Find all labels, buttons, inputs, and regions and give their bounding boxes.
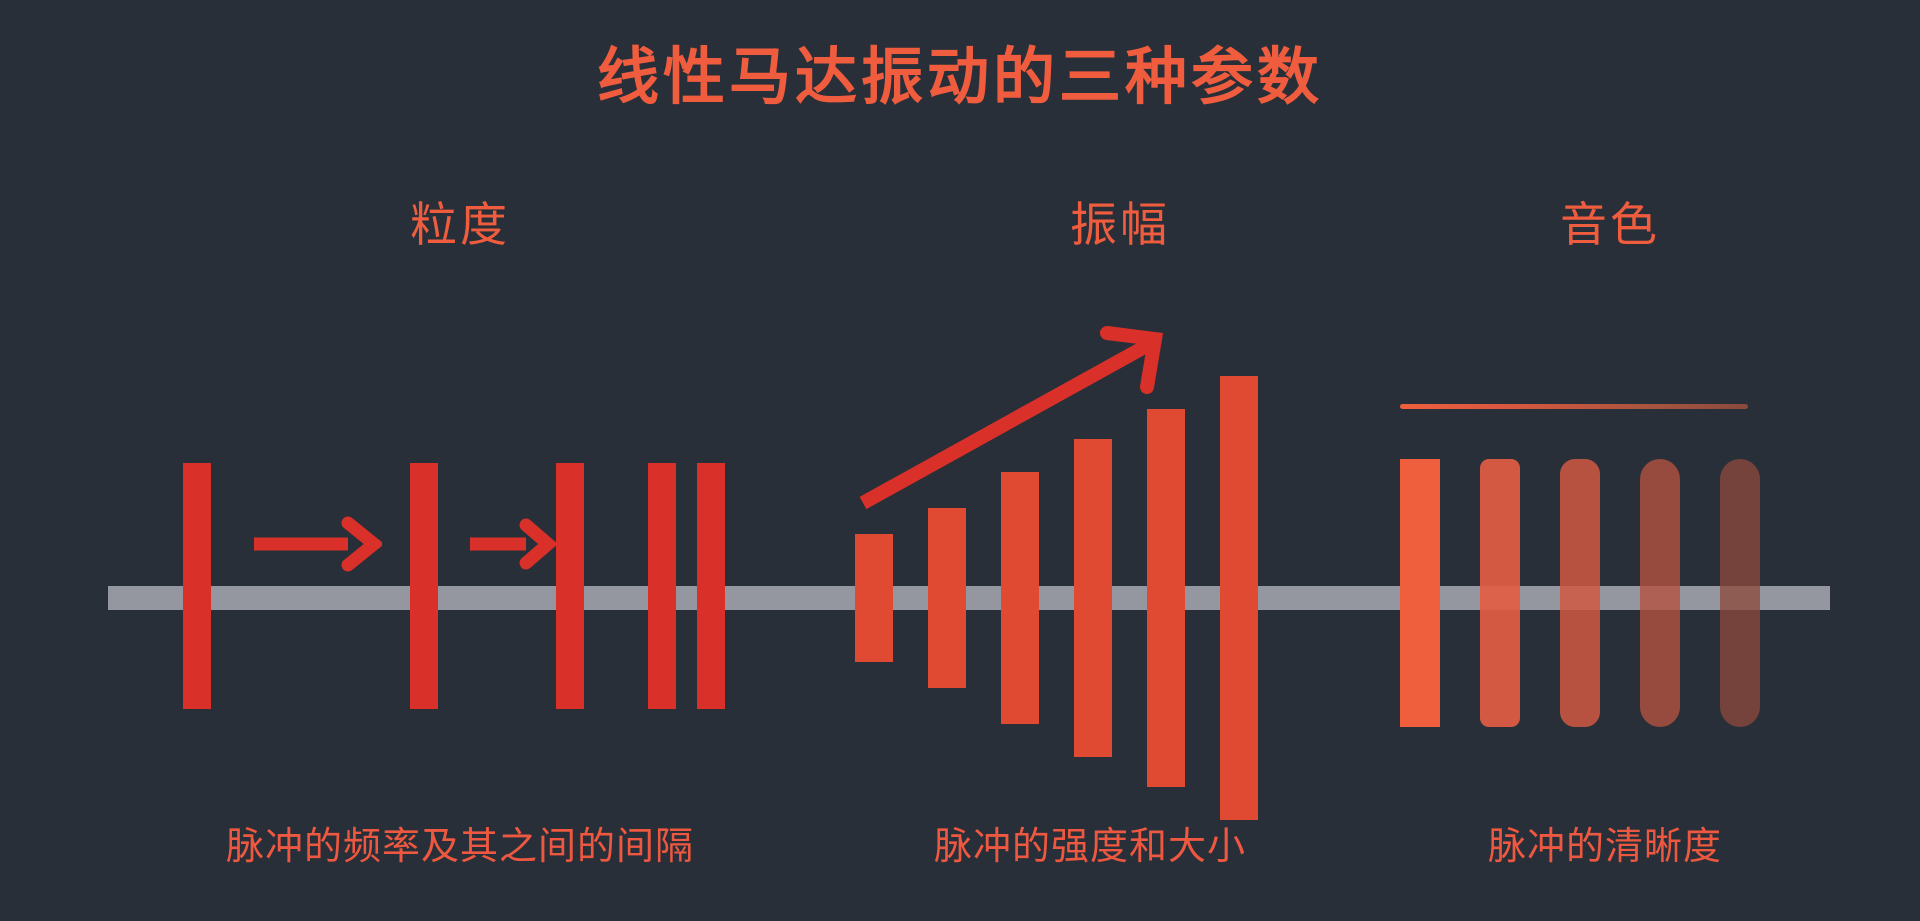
timbre-bar: [1720, 459, 1760, 727]
timbre-bar: [1400, 459, 1440, 727]
timbre-gradient-line: [1400, 404, 1748, 409]
pulse-bar: [697, 463, 725, 709]
timbre-bar: [1640, 459, 1680, 727]
amplitude-bar: [928, 508, 966, 688]
amplitude-bar: [1220, 376, 1258, 820]
section-label-granularity: 粒度: [410, 186, 510, 255]
infographic-canvas: 线性马达振动的三种参数 粒度 振幅 音色: [0, 0, 1920, 921]
timbre-bar: [1560, 459, 1600, 727]
page-title: 线性马达振动的三种参数: [0, 44, 1920, 112]
pulse-bar: [410, 463, 438, 709]
amplitude-growth-arrow-icon: [855, 325, 1185, 515]
section-label-amplitude: 振幅: [1070, 186, 1170, 255]
amplitude-bar: [855, 534, 893, 662]
interval-arrow-icon: [252, 516, 382, 572]
timbre-bar: [1480, 459, 1520, 727]
caption-amplitude: 脉冲的强度和大小: [934, 815, 1246, 870]
caption-timbre: 脉冲的清晰度: [1488, 815, 1722, 870]
interval-arrow-icon: [468, 516, 558, 572]
pulse-bar: [183, 463, 211, 709]
caption-granularity: 脉冲的频率及其之间的间隔: [226, 815, 694, 870]
pulse-bar: [648, 463, 676, 709]
section-label-timbre: 音色: [1560, 186, 1660, 255]
pulse-bar: [556, 463, 584, 709]
